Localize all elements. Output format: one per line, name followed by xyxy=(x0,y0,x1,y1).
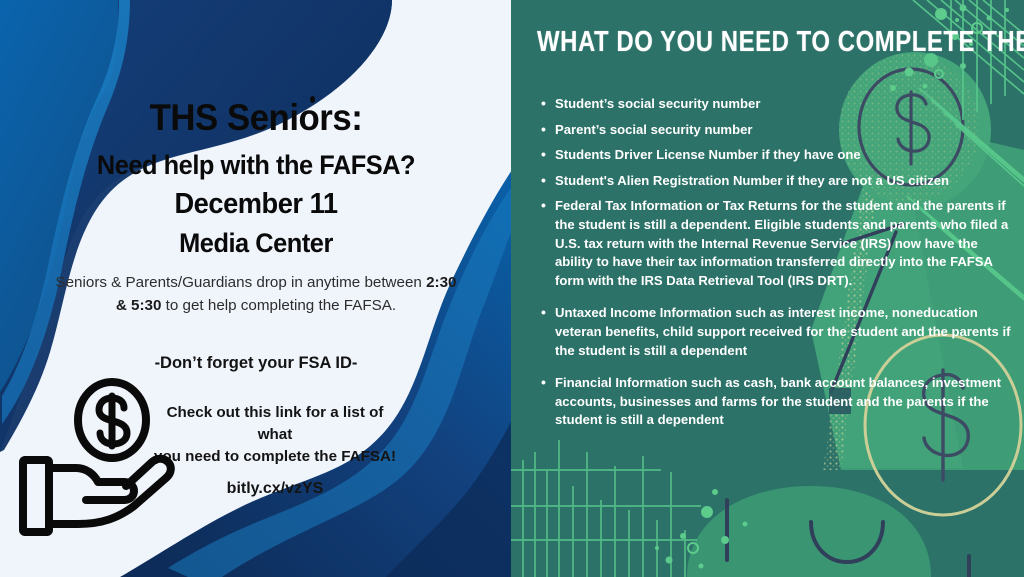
subtitle-question: Need help with the FAFSA? xyxy=(15,150,496,180)
hand-holding-coin-icon xyxy=(14,378,182,540)
green-panel-heading: WHAT DO YOU NEED TO COMPLETE THE FAFSA xyxy=(537,24,979,59)
dropin-line-two: to get help completing the FAFSA. xyxy=(161,297,396,314)
page-title: THS Seniors: xyxy=(15,98,496,138)
right-panel: WHAT DO YOU NEED TO COMPLETE THE FAFSA S… xyxy=(511,0,1024,577)
list-item: Student's Alien Registration Number if t… xyxy=(541,172,1011,191)
list-item: Parent’s social security number xyxy=(541,121,1011,140)
link-blurb-line-two: you need to complete the FAFSA! xyxy=(150,446,400,468)
event-date: December 11 xyxy=(15,188,496,220)
list-item: Financial Information such as cash, bank… xyxy=(541,374,1011,430)
fsa-id-reminder: -Don’t forget your FSA ID- xyxy=(0,354,512,373)
short-link-url[interactable]: bitly.cx/vzYS xyxy=(150,480,400,498)
list-item: Untaxed Income Information such as inter… xyxy=(541,304,1011,360)
list-item: Student’s social security number xyxy=(541,95,1011,114)
dropin-line-one: Seniors & Parents/Guardians drop in anyt… xyxy=(55,274,421,291)
list-item: Students Driver License Number if they h… xyxy=(541,146,1011,165)
link-blurb-line-one: Check out this link for a list of what xyxy=(150,402,400,446)
requirements-list: Student’s social security number Parent’… xyxy=(541,95,1011,437)
fafsa-flyer: THS Seniors: Need help with the FAFSA? D… xyxy=(0,0,1024,577)
list-item: Federal Tax Information or Tax Returns f… xyxy=(541,197,1011,290)
link-blurb: Check out this link for a list of what y… xyxy=(150,402,400,468)
event-location: Media Center xyxy=(15,228,496,258)
dropin-paragraph: Seniors & Parents/Guardians drop in anyt… xyxy=(50,271,462,317)
left-panel: THS Seniors: Need help with the FAFSA? D… xyxy=(0,0,512,577)
